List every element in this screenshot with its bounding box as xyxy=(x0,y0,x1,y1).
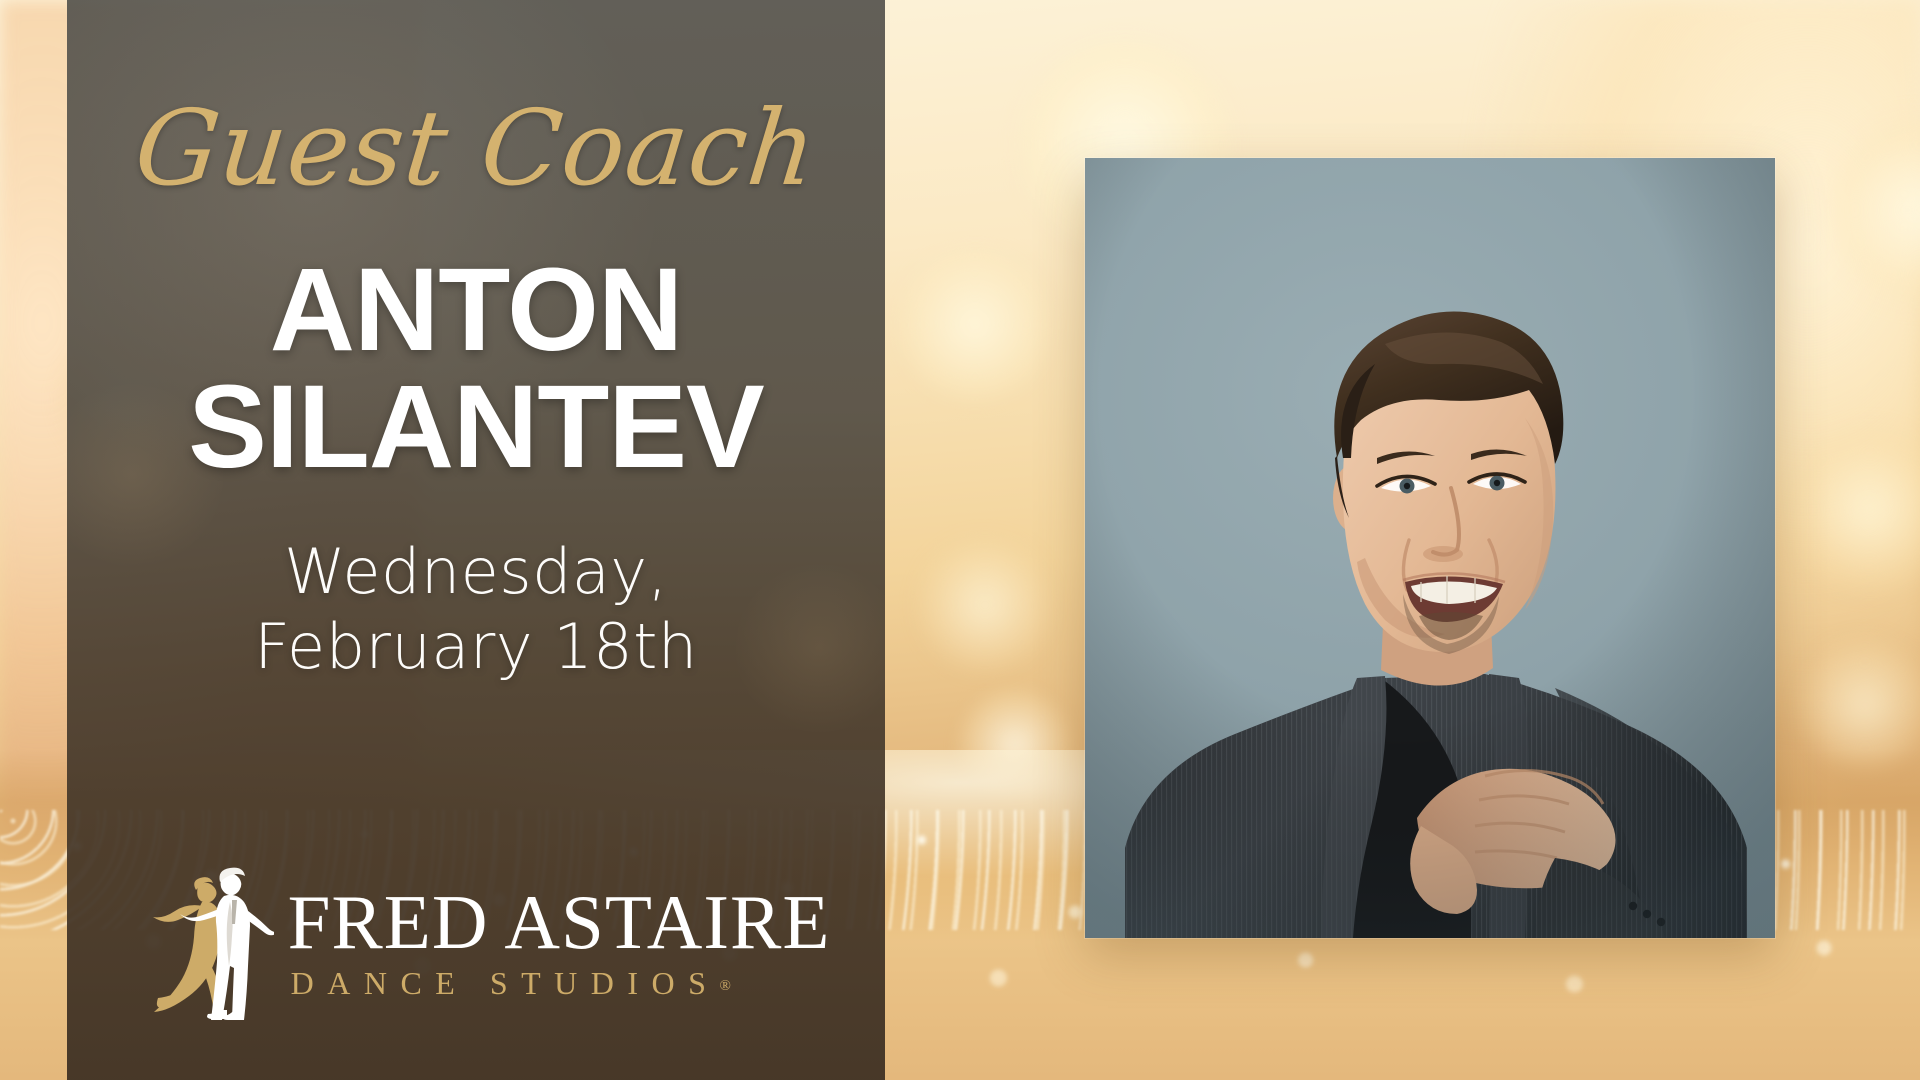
content-panel: Guest Coach ANTON SILANTEV Wednesday, Fe… xyxy=(67,0,885,1080)
event-date: Wednesday, February 18th xyxy=(254,534,697,685)
logo-sub-text: DANCE STUDIOS® xyxy=(288,965,831,1002)
panel-content: Guest Coach ANTON SILANTEV Wednesday, Fe… xyxy=(67,0,885,1080)
logo-wordmark: FRED ASTAIRE DANCE STUDIOS® xyxy=(288,886,831,1003)
registered-trademark-symbol: ® xyxy=(719,978,730,994)
ballroom-dance-couple-icon xyxy=(146,860,274,1028)
event-date-line-2: February 18th xyxy=(254,609,697,685)
coach-name-line-2: SILANTEV xyxy=(188,369,764,486)
portrait-illustration xyxy=(1085,158,1775,938)
guest-coach-portrait xyxy=(1085,158,1775,938)
coach-name-line-1: ANTON xyxy=(188,252,764,369)
logo-sub-label: DANCE STUDIOS xyxy=(291,965,720,1001)
fred-astaire-logo: FRED ASTAIRE DANCE STUDIOS® xyxy=(67,860,885,1028)
eyebrow-guest-coach: Guest Coach xyxy=(130,96,821,200)
event-date-line-1: Wednesday, xyxy=(254,534,697,610)
coach-name: ANTON SILANTEV xyxy=(188,252,764,486)
poster-canvas: Guest Coach ANTON SILANTEV Wednesday, Fe… xyxy=(0,0,1920,1080)
logo-main-text: FRED ASTAIRE xyxy=(288,886,831,960)
